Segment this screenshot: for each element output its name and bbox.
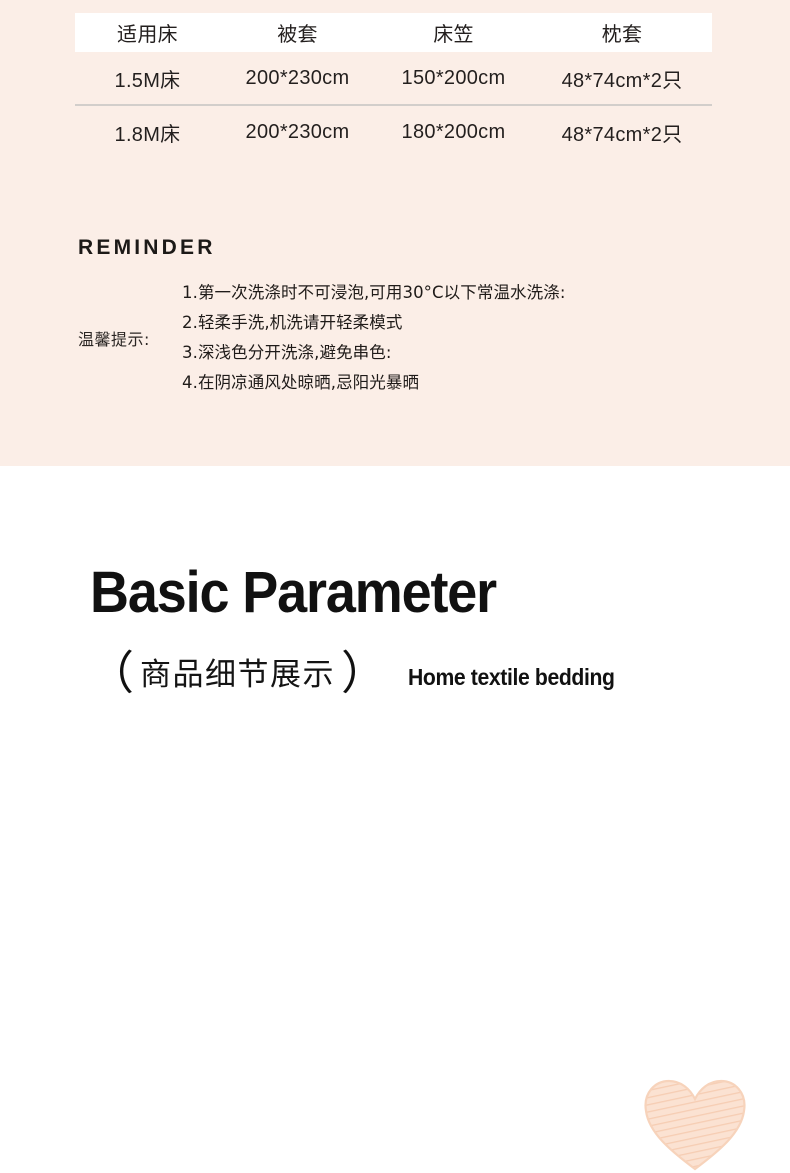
table-cell: 48*74cm*2只 xyxy=(532,118,712,147)
table-row: 1.5M床 200*230cm 150*200cm 48*74cm*2只 xyxy=(75,52,712,104)
list-item: 4.在阴凉通风处晾晒,忌阳光暴晒 xyxy=(182,368,566,398)
list-item: 2.轻柔手洗,机洗请开轻柔模式 xyxy=(182,308,566,338)
table-cell: 48*74cm*2只 xyxy=(532,64,712,93)
table-header-cell-duvet: 被套 xyxy=(220,18,375,47)
paren-right: ） xyxy=(341,650,387,696)
table-cell: 1.5M床 xyxy=(75,64,220,93)
paren-left: （ xyxy=(88,650,134,696)
subtitle-english: Home textile bedding xyxy=(408,664,615,691)
table-cell: 1.8M床 xyxy=(75,118,220,147)
reminder-body: 温馨提示: 1.第一次洗涤时不可浸泡,可用30°C以下常温水洗涤: 2.轻柔手洗… xyxy=(78,278,566,398)
table-cell: 200*230cm xyxy=(220,67,375,90)
list-item: 3.深浅色分开洗涤,避免串色: xyxy=(182,338,566,368)
reminder-block: REMINDER 温馨提示: 1.第一次洗涤时不可浸泡,可用30°C以下常温水洗… xyxy=(78,236,216,260)
heart-icon xyxy=(641,1077,749,1173)
table-header-row: 适用床 被套 床笠 枕套 xyxy=(75,13,712,52)
subtitle-chinese: 商品细节展示 xyxy=(134,649,341,694)
page-title: Basic Parameter xyxy=(90,564,496,622)
care-instruction-list: 1.第一次洗涤时不可浸泡,可用30°C以下常温水洗涤: 2.轻柔手洗,机洗请开轻… xyxy=(182,278,566,398)
reminder-label: 温馨提示: xyxy=(78,326,182,350)
specification-table: 适用床 被套 床笠 枕套 1.5M床 200*230cm 150*200cm 4… xyxy=(75,13,712,158)
table-cell: 200*230cm xyxy=(220,121,375,144)
table-row: 1.8M床 200*230cm 180*200cm 48*74cm*2只 xyxy=(75,104,712,158)
table-cell: 150*200cm xyxy=(375,67,532,90)
basic-parameter-section: Basic Parameter （ 商品细节展示 ） Home textile … xyxy=(0,466,790,742)
list-item: 1.第一次洗涤时不可浸泡,可用30°C以下常温水洗涤: xyxy=(182,278,566,308)
subtitle-row: （ 商品细节展示 ） Home textile bedding xyxy=(88,646,624,694)
reminder-heading: REMINDER xyxy=(78,236,216,260)
table-cell: 180*200cm xyxy=(375,121,532,144)
specification-panel: 适用床 被套 床笠 枕套 1.5M床 200*230cm 150*200cm 4… xyxy=(0,0,790,466)
table-header-cell-pillowcase: 枕套 xyxy=(532,18,712,47)
table-header-cell-fitted: 床笠 xyxy=(375,18,532,47)
table-header-cell-bed-size: 适用床 xyxy=(75,18,220,47)
